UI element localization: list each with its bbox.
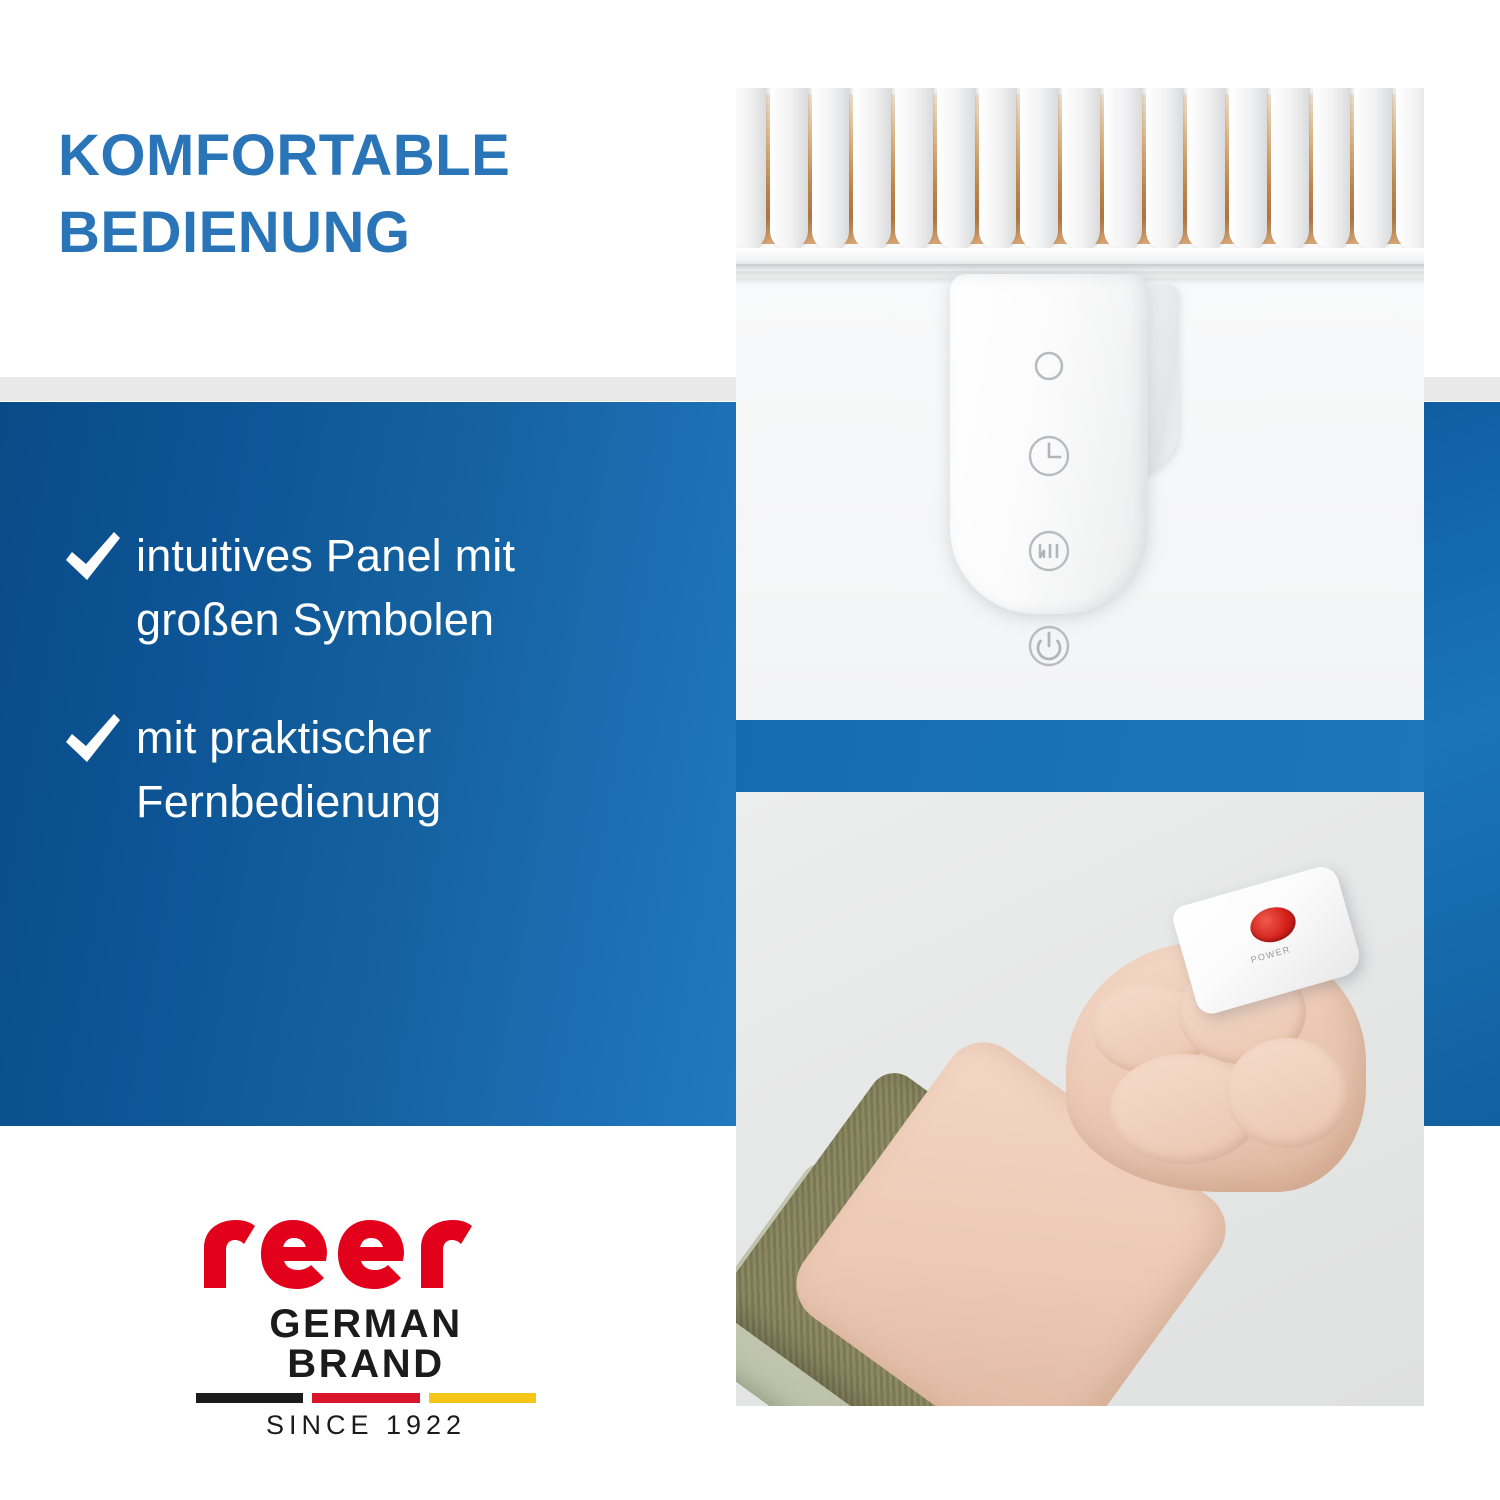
list-item: intuitives Panel mit großen Symbolen [62, 524, 702, 652]
timer-clock-icon[interactable] [1024, 431, 1074, 486]
check-icon [62, 706, 136, 768]
list-item: mit praktischer Fernbedienung [62, 706, 702, 834]
reer-wordmark-icon [200, 1218, 500, 1290]
logo-brand-text: GERMAN BRAND [196, 1304, 536, 1384]
remote-control-in-hand-photo: POWER [736, 792, 1424, 1406]
heater-grille [736, 88, 1424, 278]
check-icon [62, 524, 136, 586]
blue-strip-right-edge [1424, 402, 1500, 1126]
indicator-led-icon[interactable] [1029, 346, 1069, 391]
grille-rim [736, 264, 1424, 271]
brand-logo: GERMAN BRAND SINCE 1922 [196, 1218, 536, 1441]
blue-band-between-photos [736, 720, 1500, 792]
power-icon[interactable] [1024, 621, 1074, 676]
list-item-label: mit praktischer Fernbedienung [136, 706, 441, 834]
german-flag-bars-icon [196, 1393, 536, 1403]
flag-bar-gold [429, 1393, 536, 1403]
feature-bullet-list: intuitives Panel mit großen Symbolen mit… [62, 524, 702, 888]
flag-bar-red [312, 1393, 419, 1403]
list-item-label: intuitives Panel mit großen Symbolen [136, 524, 515, 652]
promo-graphic-canvas: KOMFORTABLE BEDIENUNG intuitives Panel m… [0, 0, 1500, 1500]
control-panel-pod [950, 274, 1148, 614]
grille-fins [736, 88, 1424, 256]
logo-since-text: SINCE 1922 [196, 1410, 536, 1441]
heater-control-panel-photo [736, 88, 1424, 720]
heat-level-icon[interactable] [1024, 526, 1074, 581]
page-title: KOMFORTABLE BEDIENUNG [58, 118, 678, 271]
flag-bar-black [196, 1393, 303, 1403]
